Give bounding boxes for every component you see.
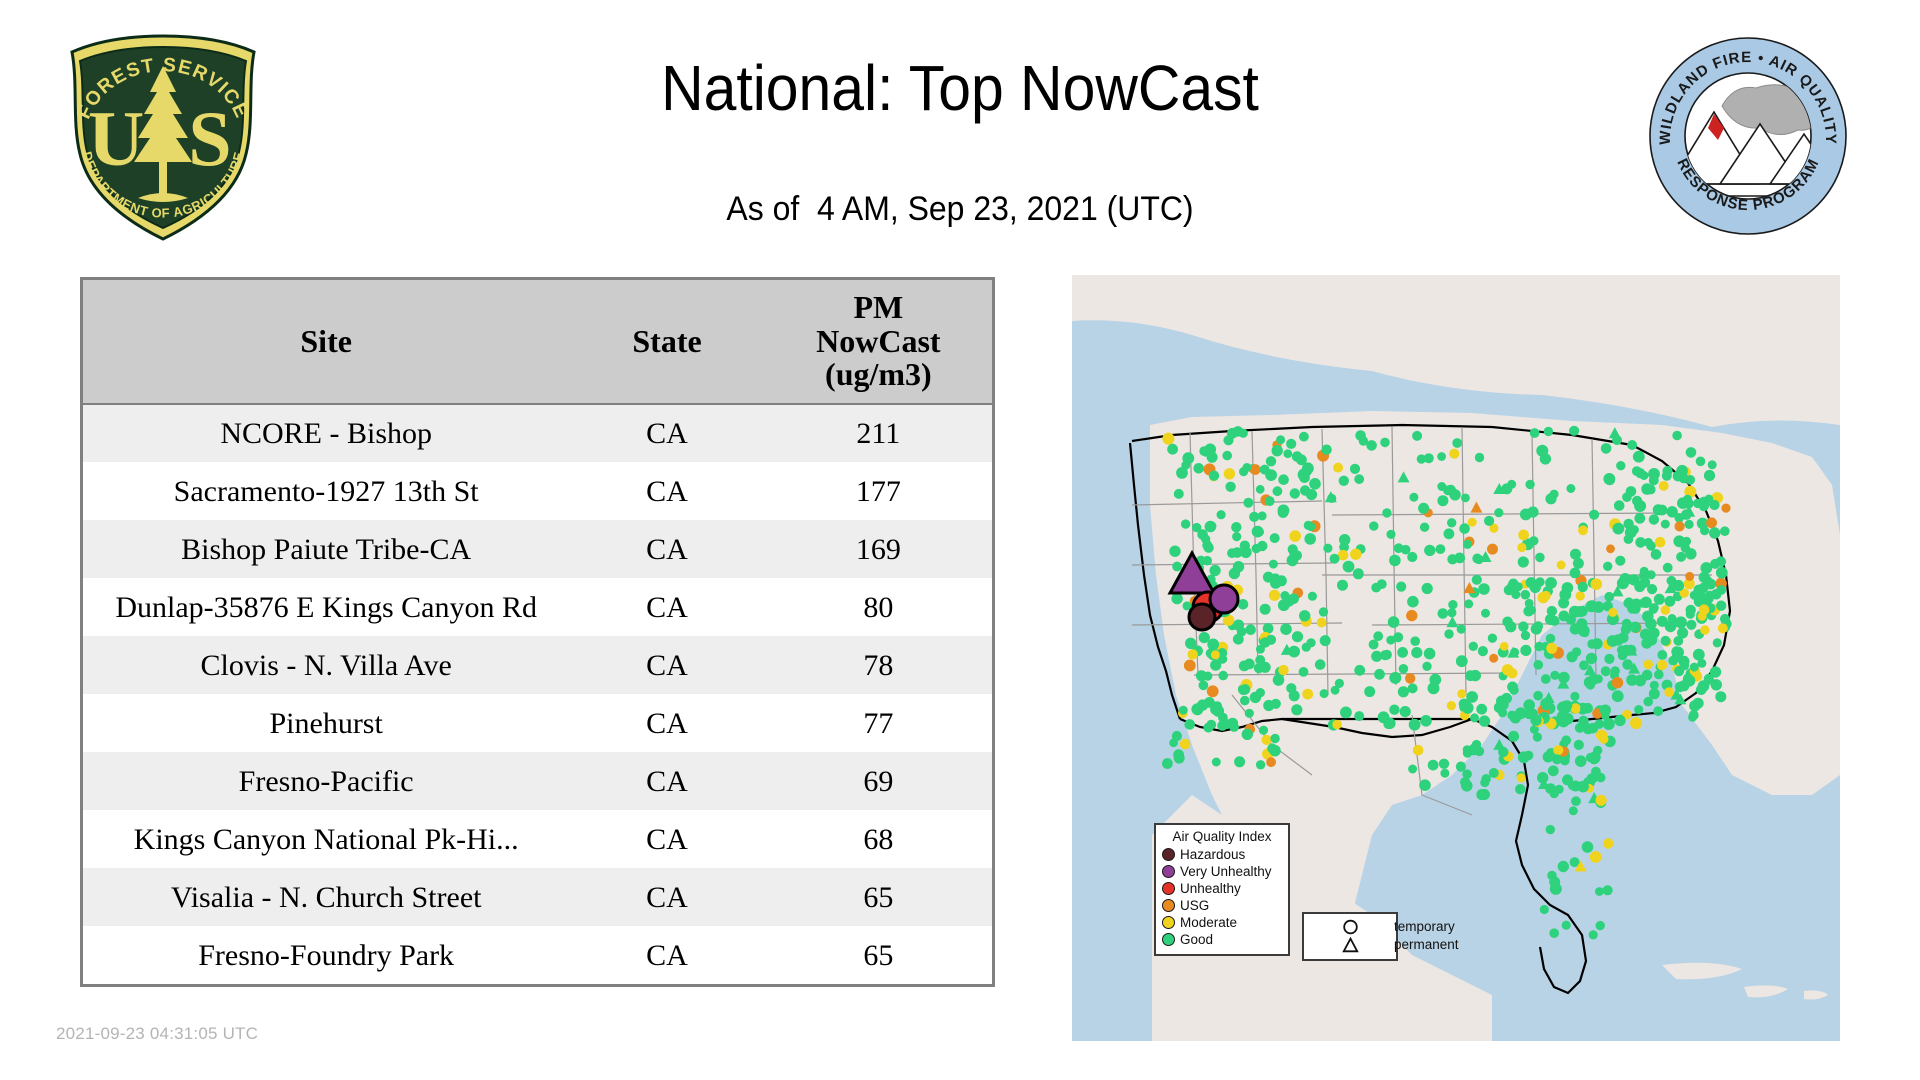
monitor-marker-temporary[interactable] xyxy=(1606,544,1615,553)
monitor-marker-temporary[interactable] xyxy=(1614,500,1625,511)
monitor-marker-temporary[interactable] xyxy=(1604,474,1615,485)
monitor-marker-temporary[interactable] xyxy=(1649,603,1658,612)
monitor-marker-temporary[interactable] xyxy=(1377,579,1387,589)
monitor-marker-temporary[interactable] xyxy=(1603,838,1613,848)
monitor-marker-temporary[interactable] xyxy=(1209,471,1219,481)
monitor-marker-temporary[interactable] xyxy=(1420,523,1429,532)
monitor-marker-temporary[interactable] xyxy=(1162,433,1174,445)
monitor-marker-temporary[interactable] xyxy=(1521,590,1531,600)
monitor-marker-temporary[interactable] xyxy=(1207,685,1219,697)
monitor-marker-temporary[interactable] xyxy=(1197,699,1208,710)
monitor-marker-temporary[interactable] xyxy=(1245,709,1254,718)
monitor-marker-temporary[interactable] xyxy=(1410,636,1420,646)
monitor-marker-temporary[interactable] xyxy=(1199,680,1209,690)
monitor-marker-temporary[interactable] xyxy=(1559,701,1570,712)
monitor-marker-temporary[interactable] xyxy=(1169,546,1180,557)
monitor-marker-temporary[interactable] xyxy=(1715,691,1726,702)
monitor-marker-temporary[interactable] xyxy=(1201,535,1210,544)
monitor-marker-temporary[interactable] xyxy=(1447,701,1456,710)
monitor-marker-temporary[interactable] xyxy=(1557,560,1566,569)
monitor-marker-temporary[interactable] xyxy=(1588,674,1599,685)
monitor-marker-temporary[interactable] xyxy=(1535,577,1544,586)
monitor-marker-temporary[interactable] xyxy=(1389,705,1399,715)
monitor-marker-temporary[interactable] xyxy=(1222,451,1232,461)
monitor-marker-temporary[interactable] xyxy=(1308,592,1317,601)
monitor-marker-temporary[interactable] xyxy=(1709,500,1719,510)
monitor-marker-temporary[interactable] xyxy=(1673,636,1683,646)
monitor-marker-temporary[interactable] xyxy=(1292,631,1303,642)
monitor-marker-temporary[interactable] xyxy=(1640,567,1649,576)
monitor-marker-temporary[interactable] xyxy=(1296,454,1307,465)
monitor-marker-temporary[interactable] xyxy=(1562,921,1571,930)
monitor-marker-temporary[interactable] xyxy=(1299,667,1309,677)
monitor-marker-temporary[interactable] xyxy=(1593,746,1602,755)
monitor-marker-temporary[interactable] xyxy=(1601,443,1612,454)
monitor-marker-temporary[interactable] xyxy=(1408,765,1417,774)
monitor-marker-temporary[interactable] xyxy=(1699,572,1710,583)
monitor-marker-temporary[interactable] xyxy=(1239,467,1248,476)
monitor-marker-temporary[interactable] xyxy=(1626,674,1638,686)
monitor-marker-temporary[interactable] xyxy=(1685,572,1694,581)
monitor-marker-temporary[interactable] xyxy=(1405,673,1415,683)
monitor-marker-temporary[interactable] xyxy=(1242,729,1253,740)
monitor-marker-temporary[interactable] xyxy=(1171,593,1182,604)
monitor-marker-temporary[interactable] xyxy=(1269,590,1280,601)
monitor-marker-temporary[interactable] xyxy=(1463,540,1472,549)
monitor-marker-temporary[interactable] xyxy=(1364,686,1375,697)
monitor-marker-temporary[interactable] xyxy=(1686,620,1696,630)
monitor-marker-temporary[interactable] xyxy=(1665,596,1676,607)
monitor-marker-temporary[interactable] xyxy=(1478,646,1488,656)
monitor-marker-temporary[interactable] xyxy=(1374,669,1385,680)
monitor-marker-temporary[interactable] xyxy=(1470,670,1481,681)
monitor-marker-temporary[interactable] xyxy=(1413,745,1424,756)
monitor-marker-temporary[interactable] xyxy=(1286,439,1296,449)
monitor-marker-temporary[interactable] xyxy=(1289,530,1301,542)
monitor-marker-temporary[interactable] xyxy=(1240,684,1251,695)
monitor-marker-temporary[interactable] xyxy=(1400,706,1411,717)
monitor-marker-temporary[interactable] xyxy=(1447,554,1457,564)
table-row[interactable]: Fresno-PacificCA69 xyxy=(83,752,992,810)
monitor-marker-temporary[interactable] xyxy=(1418,503,1429,514)
aqi-map[interactable]: Air Quality Index HazardousVery Unhealth… xyxy=(1072,275,1840,1041)
monitor-marker-temporary[interactable] xyxy=(1541,701,1551,711)
monitor-marker-temporary[interactable] xyxy=(1648,468,1660,480)
monitor-marker-temporary[interactable] xyxy=(1613,523,1625,535)
monitor-marker-temporary[interactable] xyxy=(1479,715,1490,726)
monitor-marker-temporary[interactable] xyxy=(1243,498,1253,508)
monitor-marker-temporary[interactable] xyxy=(1641,483,1653,495)
monitor-marker-temporary[interactable] xyxy=(1176,467,1188,479)
monitor-marker-temporary[interactable] xyxy=(1299,432,1309,442)
monitor-marker-temporary[interactable] xyxy=(1591,578,1603,590)
monitor-marker-temporary[interactable] xyxy=(1578,582,1588,592)
monitor-marker-temporary[interactable] xyxy=(1546,825,1555,834)
monitor-marker-temporary[interactable] xyxy=(1552,754,1562,764)
monitor-marker-temporary[interactable] xyxy=(1266,757,1276,767)
monitor-marker-temporary[interactable] xyxy=(1437,495,1448,506)
monitor-marker-temporary[interactable] xyxy=(1611,666,1620,675)
monitor-marker-temporary[interactable] xyxy=(1203,723,1213,733)
monitor-marker-temporary[interactable] xyxy=(1654,594,1665,605)
monitor-marker-temporary[interactable] xyxy=(1575,755,1587,767)
table-row[interactable]: Visalia - N. Church StreetCA65 xyxy=(83,868,992,926)
monitor-marker-temporary[interactable] xyxy=(1525,480,1534,489)
monitor-marker-temporary[interactable] xyxy=(1703,593,1714,604)
monitor-marker-temporary[interactable] xyxy=(1649,514,1659,524)
monitor-marker-temporary[interactable] xyxy=(1608,608,1617,617)
monitor-marker-temporary[interactable] xyxy=(1589,510,1599,520)
monitor-marker-temporary[interactable] xyxy=(1616,461,1625,470)
monitor-marker-temporary[interactable] xyxy=(1270,734,1279,743)
monitor-marker-temporary[interactable] xyxy=(1469,642,1478,651)
monitor-marker-temporary[interactable] xyxy=(1207,639,1219,651)
monitor-marker-temporary[interactable] xyxy=(1265,469,1277,481)
monitor-marker-temporary[interactable] xyxy=(1686,610,1695,619)
monitor-marker-temporary[interactable] xyxy=(1488,634,1497,643)
monitor-marker-temporary[interactable] xyxy=(1286,683,1296,693)
monitor-marker-temporary[interactable] xyxy=(1354,474,1364,484)
monitor-marker-temporary[interactable] xyxy=(1553,745,1563,755)
table-row[interactable]: Kings Canyon National Pk-Hi...CA68 xyxy=(83,810,992,868)
monitor-marker-temporary[interactable] xyxy=(1393,632,1403,642)
monitor-marker-temporary[interactable] xyxy=(1688,713,1697,722)
monitor-marker-temporary[interactable] xyxy=(1675,521,1685,531)
monitor-marker-temporary[interactable] xyxy=(1653,706,1663,716)
monitor-marker-temporary[interactable] xyxy=(1252,544,1261,553)
monitor-marker-temporary[interactable] xyxy=(1676,552,1686,562)
table-row[interactable]: Fresno-Foundry ParkCA65 xyxy=(83,926,992,984)
monitor-marker-temporary[interactable] xyxy=(1447,608,1456,617)
monitor-marker-temporary[interactable] xyxy=(1521,631,1530,640)
monitor-marker-temporary[interactable] xyxy=(1657,660,1667,670)
monitor-marker-temporary[interactable] xyxy=(1408,683,1418,693)
monitor-marker-temporary[interactable] xyxy=(1290,488,1300,498)
monitor-marker-temporary[interactable] xyxy=(1369,640,1379,650)
monitor-marker-temporary[interactable] xyxy=(1388,616,1400,628)
monitor-marker-temporary[interactable] xyxy=(1287,555,1299,567)
monitor-marker-temporary[interactable] xyxy=(1269,745,1280,756)
monitor-marker-temporary[interactable] xyxy=(1698,583,1708,593)
monitor-marker-temporary[interactable] xyxy=(1578,525,1588,535)
monitor-marker-temporary[interactable] xyxy=(1548,765,1559,776)
monitor-marker-temporary[interactable] xyxy=(1266,456,1276,466)
monitor-marker-temporary[interactable] xyxy=(1457,625,1466,634)
monitor-marker-temporary[interactable] xyxy=(1631,599,1642,610)
monitor-marker-temporary[interactable] xyxy=(1449,449,1459,459)
monitor-marker-temporary[interactable] xyxy=(1541,591,1551,601)
monitor-marker-temporary[interactable] xyxy=(1321,445,1331,455)
monitor-marker-temporary[interactable] xyxy=(1382,508,1391,517)
monitor-marker-temporary[interactable] xyxy=(1518,556,1529,567)
monitor-marker-temporary[interactable] xyxy=(1386,530,1395,539)
monitor-marker-temporary[interactable] xyxy=(1680,661,1690,671)
monitor-marker-temporary[interactable] xyxy=(1240,547,1252,559)
monitor-marker-temporary[interactable] xyxy=(1184,660,1196,672)
monitor-marker-temporary[interactable] xyxy=(1663,563,1673,573)
monitor-marker-temporary[interactable] xyxy=(1354,711,1364,721)
monitor-marker-temporary[interactable] xyxy=(1315,659,1326,670)
monitor-marker-temporary[interactable] xyxy=(1167,444,1178,455)
monitor-marker-temporary[interactable] xyxy=(1534,642,1544,652)
monitor-marker-temporary[interactable] xyxy=(1245,624,1256,635)
monitor-marker-temporary[interactable] xyxy=(1265,496,1275,506)
monitor-marker-temporary[interactable] xyxy=(1596,921,1605,930)
monitor-marker-temporary[interactable] xyxy=(1630,717,1642,729)
monitor-marker-temporary[interactable] xyxy=(1207,521,1216,530)
monitor-marker-temporary[interactable] xyxy=(1273,486,1283,496)
monitor-marker-temporary[interactable] xyxy=(1256,760,1265,769)
monitor-marker-temporary[interactable] xyxy=(1661,636,1671,646)
monitor-marker-temporary[interactable] xyxy=(1655,537,1666,548)
monitor-marker-temporary[interactable] xyxy=(1558,861,1569,872)
monitor-marker-temporary[interactable] xyxy=(1544,427,1553,436)
monitor-marker-temporary[interactable] xyxy=(1333,463,1343,473)
monitor-marker-temporary[interactable] xyxy=(1529,536,1538,545)
monitor-marker-temporary[interactable] xyxy=(1622,659,1633,670)
monitor-marker-temporary[interactable] xyxy=(1626,486,1637,497)
monitor-marker-temporary[interactable] xyxy=(1586,600,1598,612)
monitor-marker-temporary[interactable] xyxy=(1424,453,1434,463)
monitor-marker-temporary[interactable] xyxy=(1569,606,1581,618)
monitor-marker-temporary[interactable] xyxy=(1536,445,1548,457)
monitor-marker-temporary[interactable] xyxy=(1188,649,1198,659)
monitor-marker-temporary[interactable] xyxy=(1478,583,1490,595)
monitor-marker-temporary[interactable] xyxy=(1484,516,1494,526)
monitor-marker-temporary[interactable] xyxy=(1276,435,1285,444)
monitor-marker-temporary[interactable] xyxy=(1721,504,1730,513)
monitor-marker-temporary[interactable] xyxy=(1634,705,1643,714)
monitor-marker-temporary[interactable] xyxy=(1590,851,1602,863)
monitor-marker-temporary[interactable] xyxy=(1278,505,1290,517)
monitor-marker-temporary[interactable] xyxy=(1227,718,1238,729)
monitor-marker-temporary[interactable] xyxy=(1480,778,1489,787)
monitor-marker-temporary[interactable] xyxy=(1502,664,1513,675)
monitor-marker-temporary[interactable] xyxy=(1661,520,1670,529)
monitor-marker-temporary[interactable] xyxy=(1249,512,1259,522)
monitor-marker-temporary[interactable] xyxy=(1667,506,1678,517)
monitor-marker-temporary[interactable] xyxy=(1411,647,1422,658)
monitor-marker-temporary[interactable] xyxy=(1448,600,1457,609)
monitor-marker-temporary[interactable] xyxy=(1320,635,1331,646)
monitor-marker-temporary[interactable] xyxy=(1202,556,1212,566)
monitor-marker-temporary[interactable] xyxy=(1232,532,1241,541)
monitor-marker-temporary[interactable] xyxy=(1523,606,1534,617)
monitor-marker-temporary[interactable] xyxy=(1570,624,1581,635)
monitor-marker-temporary[interactable] xyxy=(1526,577,1537,588)
monitor-marker-temporary[interactable] xyxy=(1546,634,1556,644)
monitor-marker-temporary[interactable] xyxy=(1456,762,1466,772)
monitor-marker-temporary[interactable] xyxy=(1592,638,1603,649)
monitor-marker-temporary[interactable] xyxy=(1291,704,1302,715)
monitor-marker-temporary[interactable] xyxy=(1172,562,1182,572)
monitor-marker-temporary[interactable] xyxy=(1437,452,1446,461)
monitor-marker-temporary[interactable] xyxy=(1589,930,1598,939)
monitor-marker-temporary[interactable] xyxy=(1259,726,1268,735)
monitor-marker-temporary[interactable] xyxy=(1599,735,1608,744)
monitor-marker-temporary[interactable] xyxy=(1507,711,1516,720)
monitor-marker-temporary[interactable] xyxy=(1330,554,1340,564)
monitor-marker-temporary[interactable] xyxy=(1668,614,1677,623)
monitor-marker-temporary[interactable] xyxy=(1440,769,1449,778)
monitor-marker-temporary[interactable] xyxy=(1298,469,1310,481)
monitor-marker-temporary[interactable] xyxy=(1211,650,1220,659)
monitor-marker-temporary[interactable] xyxy=(1546,643,1557,654)
monitor-marker-temporary[interactable] xyxy=(1716,601,1726,611)
monitor-marker-temporary[interactable] xyxy=(1562,774,1573,785)
monitor-marker-temporary[interactable] xyxy=(1256,688,1265,697)
monitor-marker-temporary[interactable] xyxy=(1716,585,1726,595)
monitor-marker-temporary[interactable] xyxy=(1690,591,1699,600)
monitor-marker-temporary[interactable] xyxy=(1596,773,1606,783)
monitor-marker-temporary[interactable] xyxy=(1323,544,1332,553)
monitor-marker-temporary[interactable] xyxy=(1250,464,1261,475)
monitor-marker-temporary[interactable] xyxy=(1614,715,1625,726)
monitor-marker-temporary[interactable] xyxy=(1193,463,1204,474)
monitor-marker-temporary[interactable] xyxy=(1661,605,1671,615)
monitor-marker-temporary[interactable] xyxy=(1306,489,1317,500)
monitor-marker-temporary[interactable] xyxy=(1640,471,1649,480)
monitor-marker-temporary[interactable] xyxy=(1397,647,1408,658)
monitor-marker-temporary[interactable] xyxy=(1278,665,1288,675)
monitor-marker-temporary[interactable] xyxy=(1708,460,1717,469)
monitor-marker-temporary[interactable] xyxy=(1682,537,1691,546)
monitor-marker-temporary[interactable] xyxy=(1684,675,1696,687)
monitor-marker-temporary[interactable] xyxy=(1335,679,1344,688)
monitor-marker-temporary[interactable] xyxy=(1343,561,1355,573)
monitor-marker-temporary[interactable] xyxy=(1570,568,1581,579)
monitor-marker-temporary[interactable] xyxy=(1507,581,1518,592)
monitor-marker-temporary[interactable] xyxy=(1407,596,1419,608)
monitor-marker-temporary[interactable] xyxy=(1566,484,1575,493)
monitor-marker-temporary[interactable] xyxy=(1706,517,1717,528)
monitor-marker-temporary[interactable] xyxy=(1700,625,1709,634)
monitor-marker-temporary[interactable] xyxy=(1436,544,1446,554)
monitor-marker-temporary[interactable] xyxy=(1603,562,1612,571)
monitor-marker-temporary[interactable] xyxy=(1399,664,1409,674)
monitor-marker-temporary[interactable] xyxy=(1596,795,1607,806)
monitor-marker-temporary[interactable] xyxy=(1515,784,1525,794)
monitor-marker-temporary[interactable] xyxy=(1545,577,1557,589)
monitor-marker-temporary[interactable] xyxy=(1437,482,1446,491)
monitor-marker-temporary[interactable] xyxy=(1507,480,1516,489)
monitor-marker-temporary[interactable] xyxy=(1502,617,1513,628)
monitor-marker-temporary[interactable] xyxy=(1407,552,1417,562)
monitor-marker-temporary[interactable] xyxy=(1212,758,1221,767)
monitor-marker-temporary[interactable] xyxy=(1396,582,1406,592)
monitor-marker-temporary[interactable] xyxy=(1444,528,1455,539)
monitor-marker-temporary[interactable] xyxy=(1547,871,1557,881)
monitor-marker-temporary[interactable] xyxy=(1371,651,1382,662)
monitor-marker-temporary[interactable] xyxy=(1174,753,1185,764)
monitor-marker-temporary[interactable] xyxy=(1424,648,1436,660)
monitor-marker-temporary[interactable] xyxy=(1720,614,1730,624)
monitor-marker-temporary[interactable] xyxy=(1685,520,1694,529)
monitor-marker-temporary[interactable] xyxy=(1270,573,1280,583)
monitor-marker-temporary[interactable] xyxy=(1709,527,1720,538)
monitor-marker-temporary[interactable] xyxy=(1306,522,1315,531)
monitor-marker-temporary[interactable] xyxy=(1283,595,1295,607)
monitor-marker-temporary[interactable] xyxy=(1583,723,1594,734)
monitor-marker-temporary[interactable] xyxy=(1234,756,1245,767)
monitor-marker-temporary[interactable] xyxy=(1530,428,1540,438)
monitor-marker-temporary[interactable] xyxy=(1604,592,1614,602)
monitor-marker-temporary[interactable] xyxy=(1373,631,1383,641)
monitor-marker-temporary[interactable] xyxy=(1468,518,1477,527)
monitor-marker-temporary[interactable] xyxy=(1511,590,1520,599)
monitor-marker-temporary[interactable] xyxy=(1474,555,1483,564)
monitor-marker-temporary[interactable] xyxy=(1394,543,1404,553)
monitor-marker-temporary[interactable] xyxy=(1550,789,1559,798)
monitor-marker-temporary[interactable] xyxy=(1210,704,1221,715)
monitor-marker-temporary[interactable] xyxy=(1355,430,1366,441)
monitor-marker-temporary[interactable] xyxy=(1619,573,1631,585)
monitor-marker-temporary[interactable] xyxy=(1624,534,1634,544)
monitor-marker-temporary[interactable] xyxy=(1409,719,1421,731)
monitor-marker-temporary[interactable] xyxy=(1339,476,1349,486)
monitor-marker-temporary[interactable] xyxy=(1419,779,1431,791)
monitor-marker-temporary[interactable] xyxy=(1203,672,1212,681)
monitor-marker-temporary[interactable] xyxy=(1304,533,1316,545)
monitor-marker-temporary[interactable] xyxy=(1718,623,1728,633)
monitor-marker-temporary[interactable] xyxy=(1500,642,1509,651)
monitor-marker-temporary[interactable] xyxy=(1438,608,1449,619)
monitor-marker-temporary[interactable] xyxy=(1545,493,1556,504)
monitor-marker-temporary[interactable] xyxy=(1389,672,1401,684)
monitor-marker-temporary[interactable] xyxy=(1445,485,1456,496)
monitor-marker-temporary[interactable] xyxy=(1676,465,1688,477)
monitor-marker-temporary[interactable] xyxy=(1550,883,1562,895)
monitor-marker-temporary[interactable] xyxy=(1398,686,1409,697)
monitor-marker-temporary[interactable] xyxy=(1380,438,1390,448)
monitor-marker-temporary[interactable] xyxy=(1337,580,1348,591)
monitor-marker-temporary[interactable] xyxy=(1272,445,1283,456)
monitor-marker-temporary[interactable] xyxy=(1444,629,1453,638)
monitor-marker-temporary[interactable] xyxy=(1340,707,1352,719)
monitor-marker-temporary[interactable] xyxy=(1547,606,1557,616)
monitor-marker-temporary[interactable] xyxy=(1534,660,1544,670)
monitor-marker-temporary[interactable] xyxy=(1668,656,1678,666)
monitor-marker-temporary[interactable] xyxy=(1541,674,1551,684)
monitor-marker-temporary[interactable] xyxy=(1520,645,1531,656)
monitor-marker-temporary[interactable] xyxy=(1218,671,1228,681)
monitor-marker-temporary[interactable] xyxy=(1463,745,1472,754)
monitor-marker-temporary[interactable] xyxy=(1635,537,1646,548)
monitor-marker-temporary[interactable] xyxy=(1618,651,1628,661)
monitor-marker-temporary[interactable] xyxy=(1713,638,1722,647)
monitor-marker-temporary[interactable] xyxy=(1181,519,1190,528)
monitor-marker-temporary[interactable] xyxy=(1460,777,1470,787)
monitor-marker-temporary[interactable] xyxy=(1210,565,1221,576)
monitor-marker-temporary[interactable] xyxy=(1518,751,1530,763)
monitor-marker-temporary[interactable] xyxy=(1716,567,1728,579)
monitor-marker-temporary[interactable] xyxy=(1693,649,1705,661)
monitor-marker-temporary[interactable] xyxy=(1262,735,1272,745)
monitor-marker-temporary[interactable] xyxy=(1424,545,1435,556)
monitor-marker-temporary[interactable] xyxy=(1283,449,1292,458)
monitor-marker-temporary[interactable] xyxy=(1207,452,1218,463)
monitor-marker-temporary[interactable] xyxy=(1690,663,1699,672)
monitor-marker-temporary[interactable] xyxy=(1677,497,1689,509)
monitor-marker-temporary[interactable] xyxy=(1643,660,1653,670)
monitor-marker-temporary[interactable] xyxy=(1233,561,1244,572)
monitor-marker-temporary[interactable] xyxy=(1601,666,1611,676)
monitor-marker-temporary[interactable] xyxy=(1180,739,1191,750)
monitor-marker-temporary[interactable] xyxy=(1369,521,1378,530)
monitor-marker-temporary[interactable] xyxy=(1447,518,1456,527)
monitor-marker-temporary[interactable] xyxy=(1549,616,1559,626)
monitor-marker-temporary[interactable] xyxy=(1533,691,1543,701)
